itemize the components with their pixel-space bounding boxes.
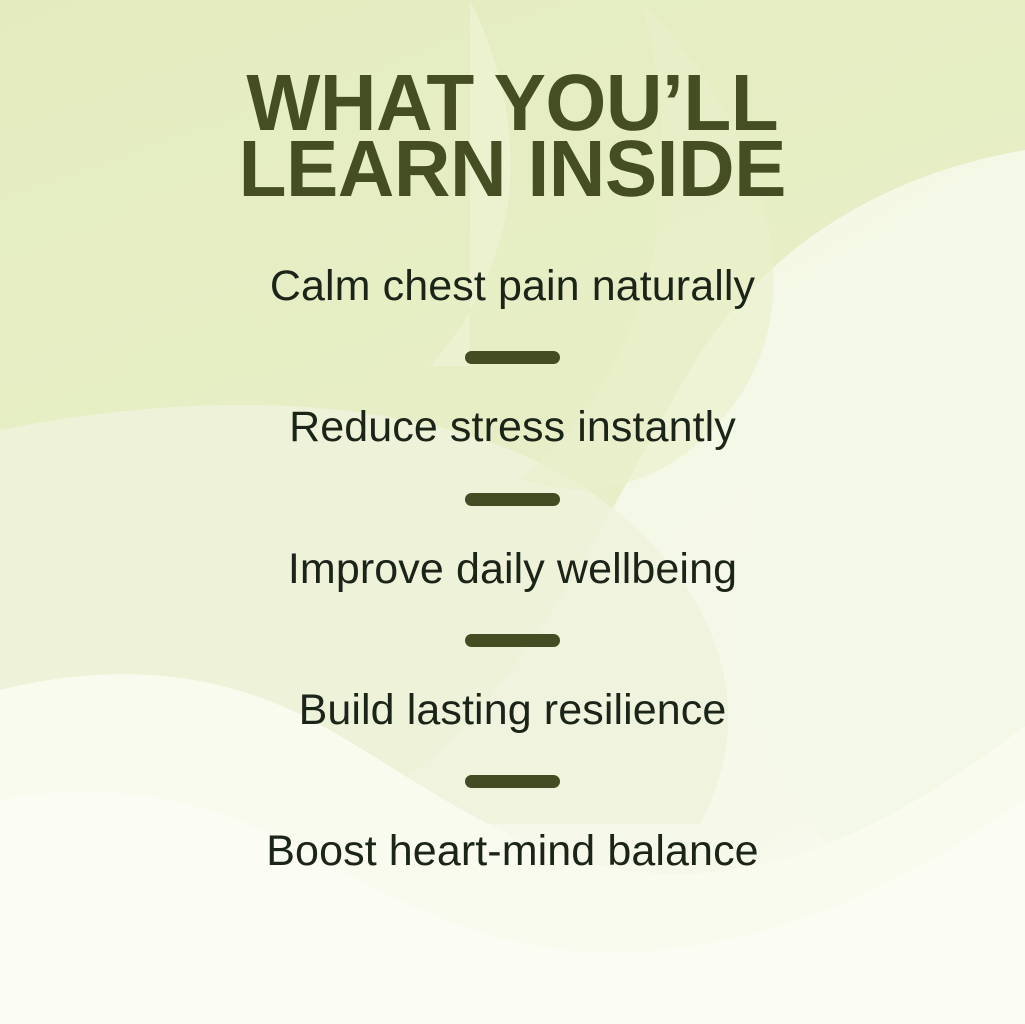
list-item: Improve daily wellbeing <box>288 546 737 593</box>
divider-3 <box>0 593 1025 687</box>
divider-pill-icon <box>465 351 560 364</box>
headline-line-2: LEARN INSIDE <box>239 136 786 202</box>
divider-4 <box>0 734 1025 828</box>
poster-canvas: WHAT YOU’LL LEARN INSIDE Calm chest pain… <box>0 0 1025 1024</box>
divider-pill-icon <box>465 634 560 647</box>
poster-content: WHAT YOU’LL LEARN INSIDE Calm chest pain… <box>0 0 1025 1024</box>
divider-pill-icon <box>465 493 560 506</box>
list-item: Calm chest pain naturally <box>270 263 755 310</box>
list-item: Boost heart-mind balance <box>266 828 758 875</box>
page-title: WHAT YOU’LL LEARN INSIDE <box>239 0 786 201</box>
list-item: Build lasting resilience <box>299 687 727 734</box>
divider-2 <box>0 452 1025 546</box>
divider-pill-icon <box>465 775 560 788</box>
benefit-list: Calm chest pain naturally Reduce stress … <box>0 263 1025 875</box>
divider-1 <box>0 310 1025 404</box>
list-item: Reduce stress instantly <box>289 404 736 451</box>
